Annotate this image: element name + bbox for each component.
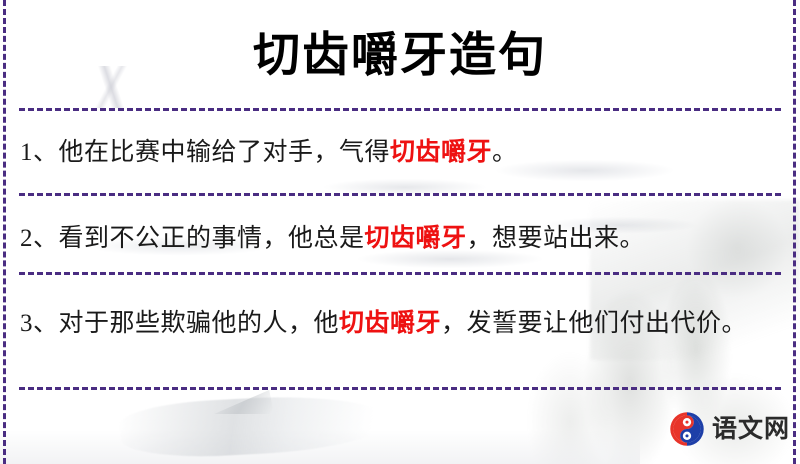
slide-page: 切齿嚼牙造句 1、他在比赛中输给了对手，气得切齿嚼牙。 2、看到不公正的事情，他… — [0, 0, 800, 464]
sentence-index: 1、 — [20, 139, 59, 166]
ink-mist-watermark — [0, 430, 640, 464]
page-title: 切齿嚼牙造句 — [0, 26, 800, 86]
sentence-text-after: ，发誓要让他们付出代价。 — [441, 310, 747, 337]
taiji-fish-logo-icon — [668, 410, 706, 448]
highlighted-idiom: 切齿嚼牙 — [390, 137, 492, 166]
dashed-divider-4 — [19, 387, 781, 390]
sentence-text-before: 他在比赛中输给了对手，气得 — [59, 139, 391, 166]
sentence-list: 1、他在比赛中输给了对手，气得切齿嚼牙。 2、看到不公正的事情，他总是切齿嚼牙，… — [20, 108, 780, 346]
site-logo: 语文网 — [668, 410, 790, 448]
highlighted-idiom: 切齿嚼牙 — [339, 308, 441, 337]
list-item: 1、他在比赛中输给了对手，气得切齿嚼牙。 — [20, 129, 780, 175]
sentence-text-after: 。 — [492, 139, 518, 166]
sentence-text-before: 对于那些欺骗他的人，他 — [59, 310, 340, 337]
sentence-text-before: 看到不公正的事情，他总是 — [59, 225, 365, 252]
ink-boat-sail-watermark — [214, 390, 274, 414]
sentence-text-after: ，想要站出来。 — [467, 225, 646, 252]
sentence-index: 2、 — [20, 225, 59, 252]
ink-boat-watermark — [119, 391, 392, 461]
list-item: 2、看到不公正的事情，他总是切齿嚼牙，想要站出来。 — [20, 215, 780, 261]
list-item: 3、对于那些欺骗他的人，他切齿嚼牙，发誓要让他们付出代价。 — [20, 300, 780, 346]
sentence-index: 3、 — [20, 310, 59, 337]
highlighted-idiom: 切齿嚼牙 — [365, 223, 467, 252]
site-logo-text: 语文网 — [712, 415, 790, 443]
